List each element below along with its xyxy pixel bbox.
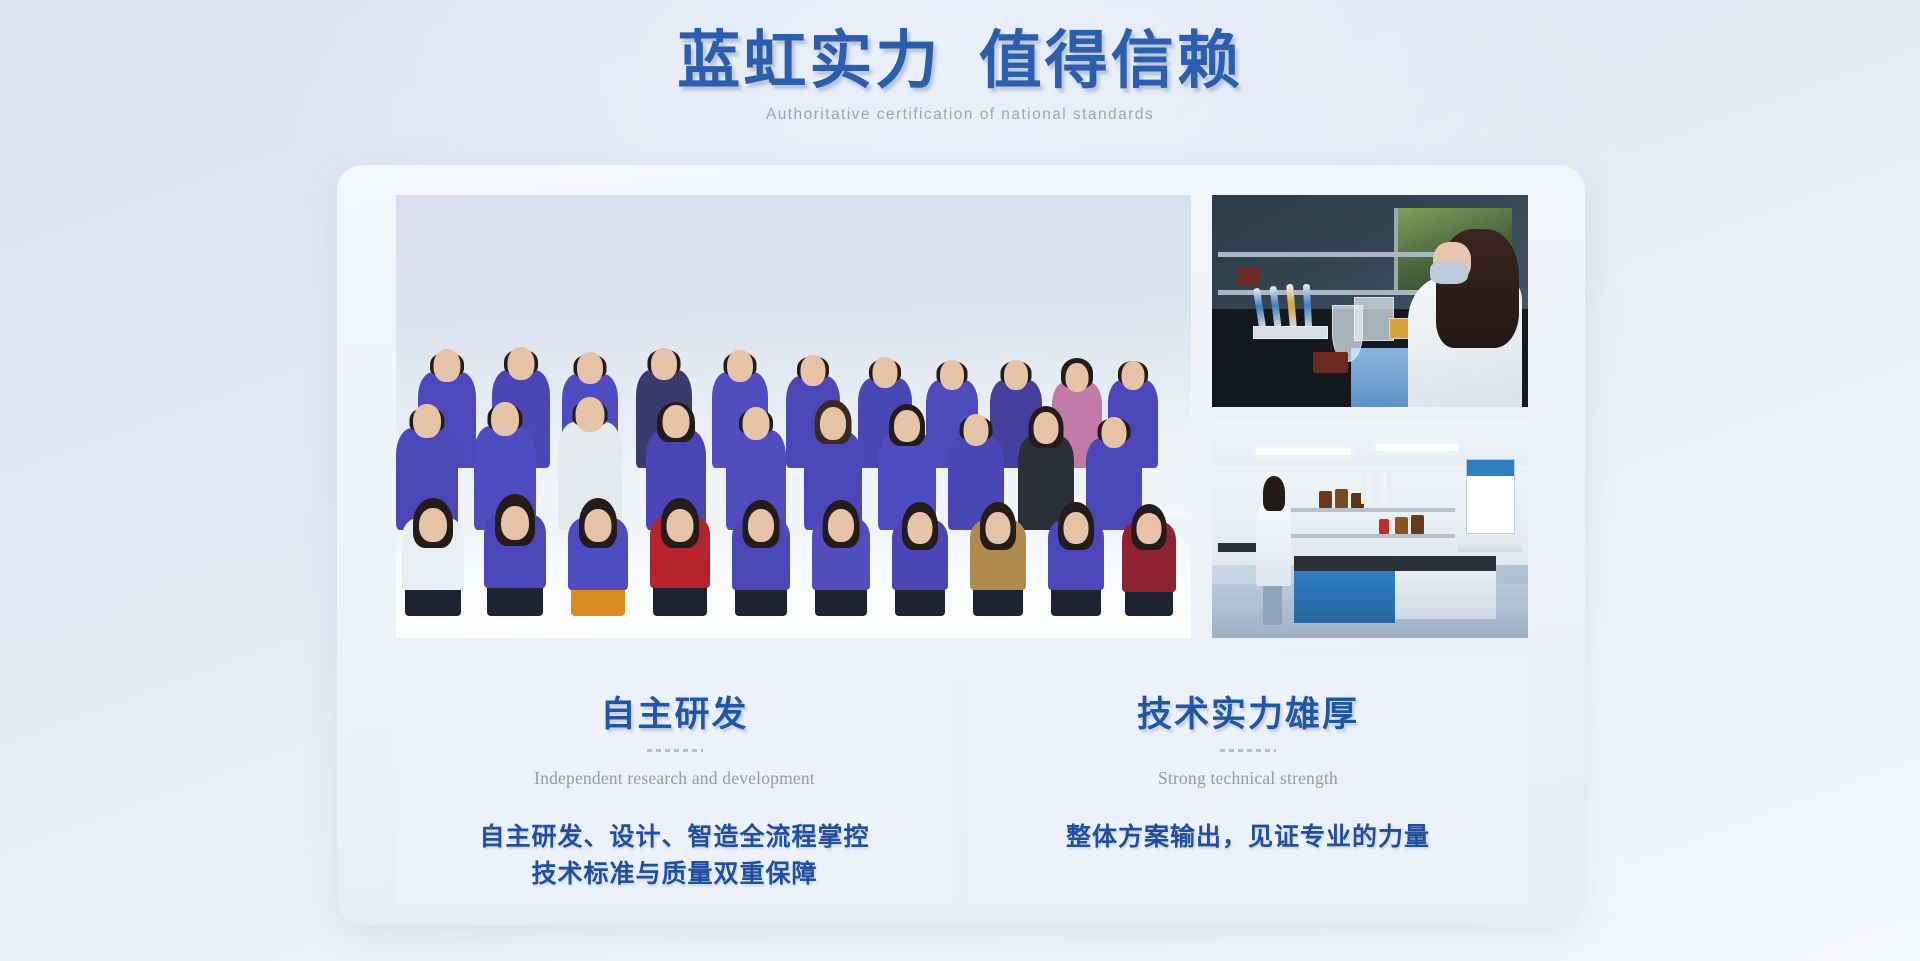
card-subtitle: Independent research and development — [396, 768, 953, 789]
face-mask — [1430, 261, 1468, 284]
page-title: 蓝虹实力 值得信赖 — [0, 26, 1920, 97]
person — [730, 488, 792, 616]
technician-hair — [1263, 476, 1285, 511]
page-subtitle: Authoritative certification of national … — [0, 106, 1920, 124]
safety-poster — [1466, 459, 1515, 534]
card-subtitle: Strong technical strength — [968, 768, 1528, 789]
card-description: 自主研发、设计、智造全流程掌控 技术标准与质量双重保障 — [396, 819, 953, 893]
person — [1046, 490, 1106, 616]
feature-card-independent-rd: 自主研发 Independent research and developmen… — [396, 655, 953, 903]
lab-shelf — [1218, 252, 1446, 257]
reagent-bottle — [1411, 515, 1424, 534]
person — [648, 486, 712, 616]
photo-grid — [396, 195, 1528, 638]
feature-card-technical-strength: 技术实力雄厚 Strong technical strength 整体方案输出，… — [968, 655, 1528, 903]
content-panel: 自主研发 Independent research and developmen… — [337, 165, 1585, 925]
reagent-bottle — [1395, 517, 1408, 534]
page-header: 蓝虹实力 值得信赖 Authoritative certification of… — [0, 26, 1920, 124]
person — [400, 488, 466, 616]
promo-page: 蓝虹实力 值得信赖 Authoritative certification of… — [0, 0, 1920, 961]
reagent-shelf — [1291, 508, 1455, 512]
card-description: 整体方案输出，见证专业的力量 — [968, 819, 1528, 856]
reagent-bottle — [1319, 491, 1332, 508]
person — [810, 488, 872, 616]
team-group-photo — [396, 195, 1191, 638]
dotted-divider-icon — [1220, 749, 1276, 752]
dotted-divider-icon — [647, 749, 703, 752]
reagent-bottle — [1335, 489, 1348, 508]
reagent-vial — [1329, 352, 1348, 373]
reagent-shelf — [1291, 534, 1455, 538]
graduated-cylinder — [1373, 474, 1379, 504]
bench-cabinet — [1395, 571, 1496, 619]
graduated-cylinder — [1386, 472, 1392, 504]
poster-header — [1467, 460, 1514, 476]
person — [968, 490, 1028, 616]
lab-technician-photo — [1212, 195, 1528, 407]
person — [1120, 492, 1178, 616]
pipette-stand — [1253, 326, 1328, 339]
person — [566, 488, 630, 616]
ceiling-light — [1376, 444, 1458, 451]
technician-coat — [1256, 500, 1291, 586]
reagent-bottle — [1379, 519, 1388, 534]
person — [482, 484, 548, 616]
card-title: 自主研发 — [396, 655, 953, 737]
laboratory-room-photo — [1212, 422, 1528, 638]
graduated-cylinder — [1361, 472, 1367, 504]
technician-legs — [1263, 582, 1282, 625]
feature-cards: 自主研发 Independent research and developmen… — [396, 655, 1528, 903]
reagent-vial — [1237, 267, 1259, 286]
bench-cabinet — [1294, 571, 1395, 623]
side-bench — [1458, 541, 1521, 552]
card-title: 技术实力雄厚 — [968, 655, 1528, 737]
island-bench-top — [1294, 556, 1496, 571]
person — [890, 490, 950, 616]
ceiling-light — [1256, 448, 1351, 455]
